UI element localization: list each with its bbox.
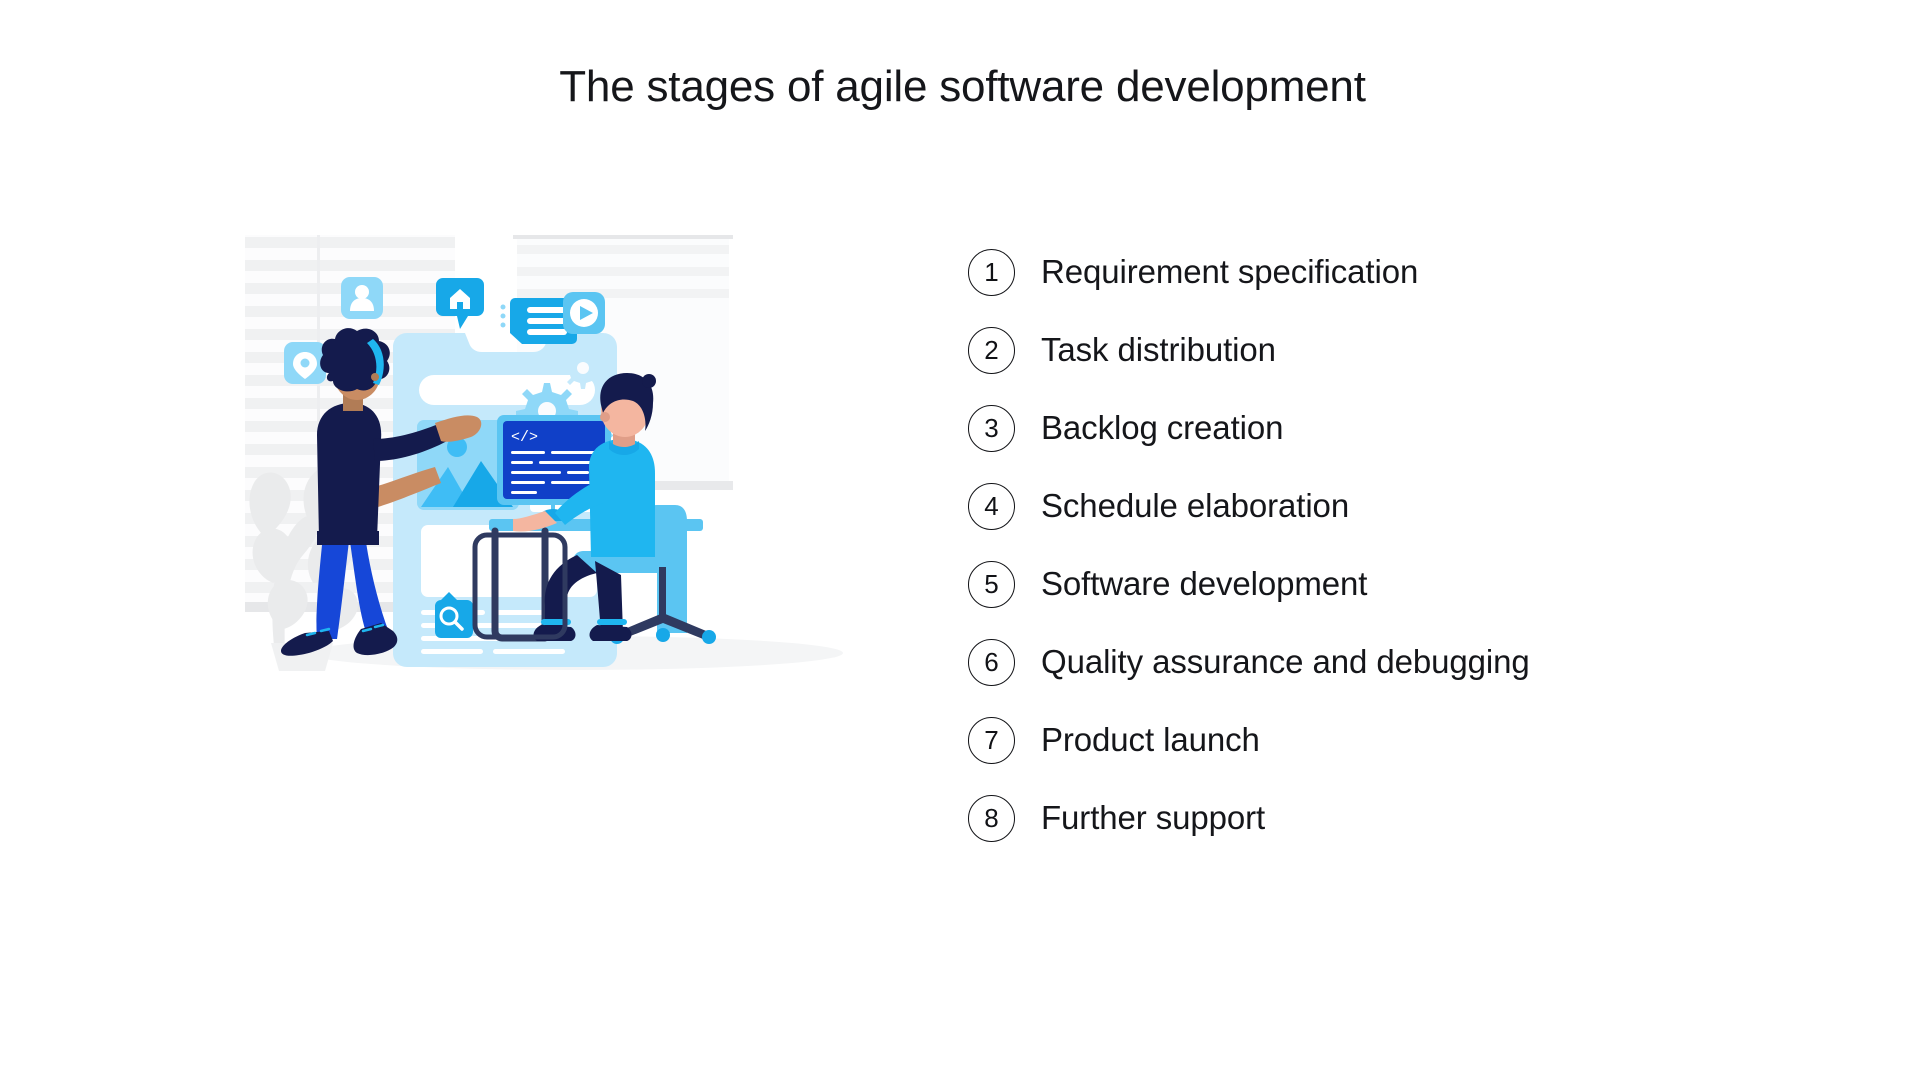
list-item[interactable]: 2 Task distribution xyxy=(968,311,1728,389)
list-item[interactable]: 5 Software development xyxy=(968,545,1728,623)
step-number-badge: 5 xyxy=(968,561,1015,608)
step-number-badge: 2 xyxy=(968,327,1015,374)
step-number-badge: 6 xyxy=(968,639,1015,686)
list-item[interactable]: 8 Further support xyxy=(968,779,1728,857)
list-item[interactable]: 4 Schedule elaboration xyxy=(968,467,1728,545)
step-number-badge: 7 xyxy=(968,717,1015,764)
step-number-badge: 8 xyxy=(968,795,1015,842)
step-label: Task distribution xyxy=(1041,331,1276,369)
list-item[interactable]: 3 Backlog creation xyxy=(968,389,1728,467)
step-number-badge: 4 xyxy=(968,483,1015,530)
step-label: Requirement specification xyxy=(1041,253,1418,291)
step-label: Product launch xyxy=(1041,721,1260,759)
gear-icon xyxy=(563,349,603,389)
page-title: The stages of agile software development xyxy=(0,62,1925,112)
code-brackets-icon: </> xyxy=(511,429,538,446)
steps-list: 1 Requirement specification 2 Task distr… xyxy=(968,233,1728,857)
step-label: Backlog creation xyxy=(1041,409,1283,447)
infographic-page: The stages of agile software development xyxy=(0,0,1925,1089)
phone-searchbar xyxy=(419,375,595,405)
step-number-badge: 1 xyxy=(968,249,1015,296)
step-number-badge: 3 xyxy=(968,405,1015,452)
list-item[interactable]: 1 Requirement specification xyxy=(968,233,1728,311)
step-label: Schedule elaboration xyxy=(1041,487,1349,525)
location-pin-icon xyxy=(284,342,326,384)
user-icon xyxy=(341,277,383,319)
list-item[interactable]: 7 Product launch xyxy=(968,701,1728,779)
step-label: Quality assurance and debugging xyxy=(1041,643,1530,681)
list-item[interactable]: 6 Quality assurance and debugging xyxy=(968,623,1728,701)
step-label: Further support xyxy=(1041,799,1265,837)
play-icon xyxy=(563,292,605,334)
illustration: </> xyxy=(245,235,905,825)
step-label: Software development xyxy=(1041,565,1367,603)
